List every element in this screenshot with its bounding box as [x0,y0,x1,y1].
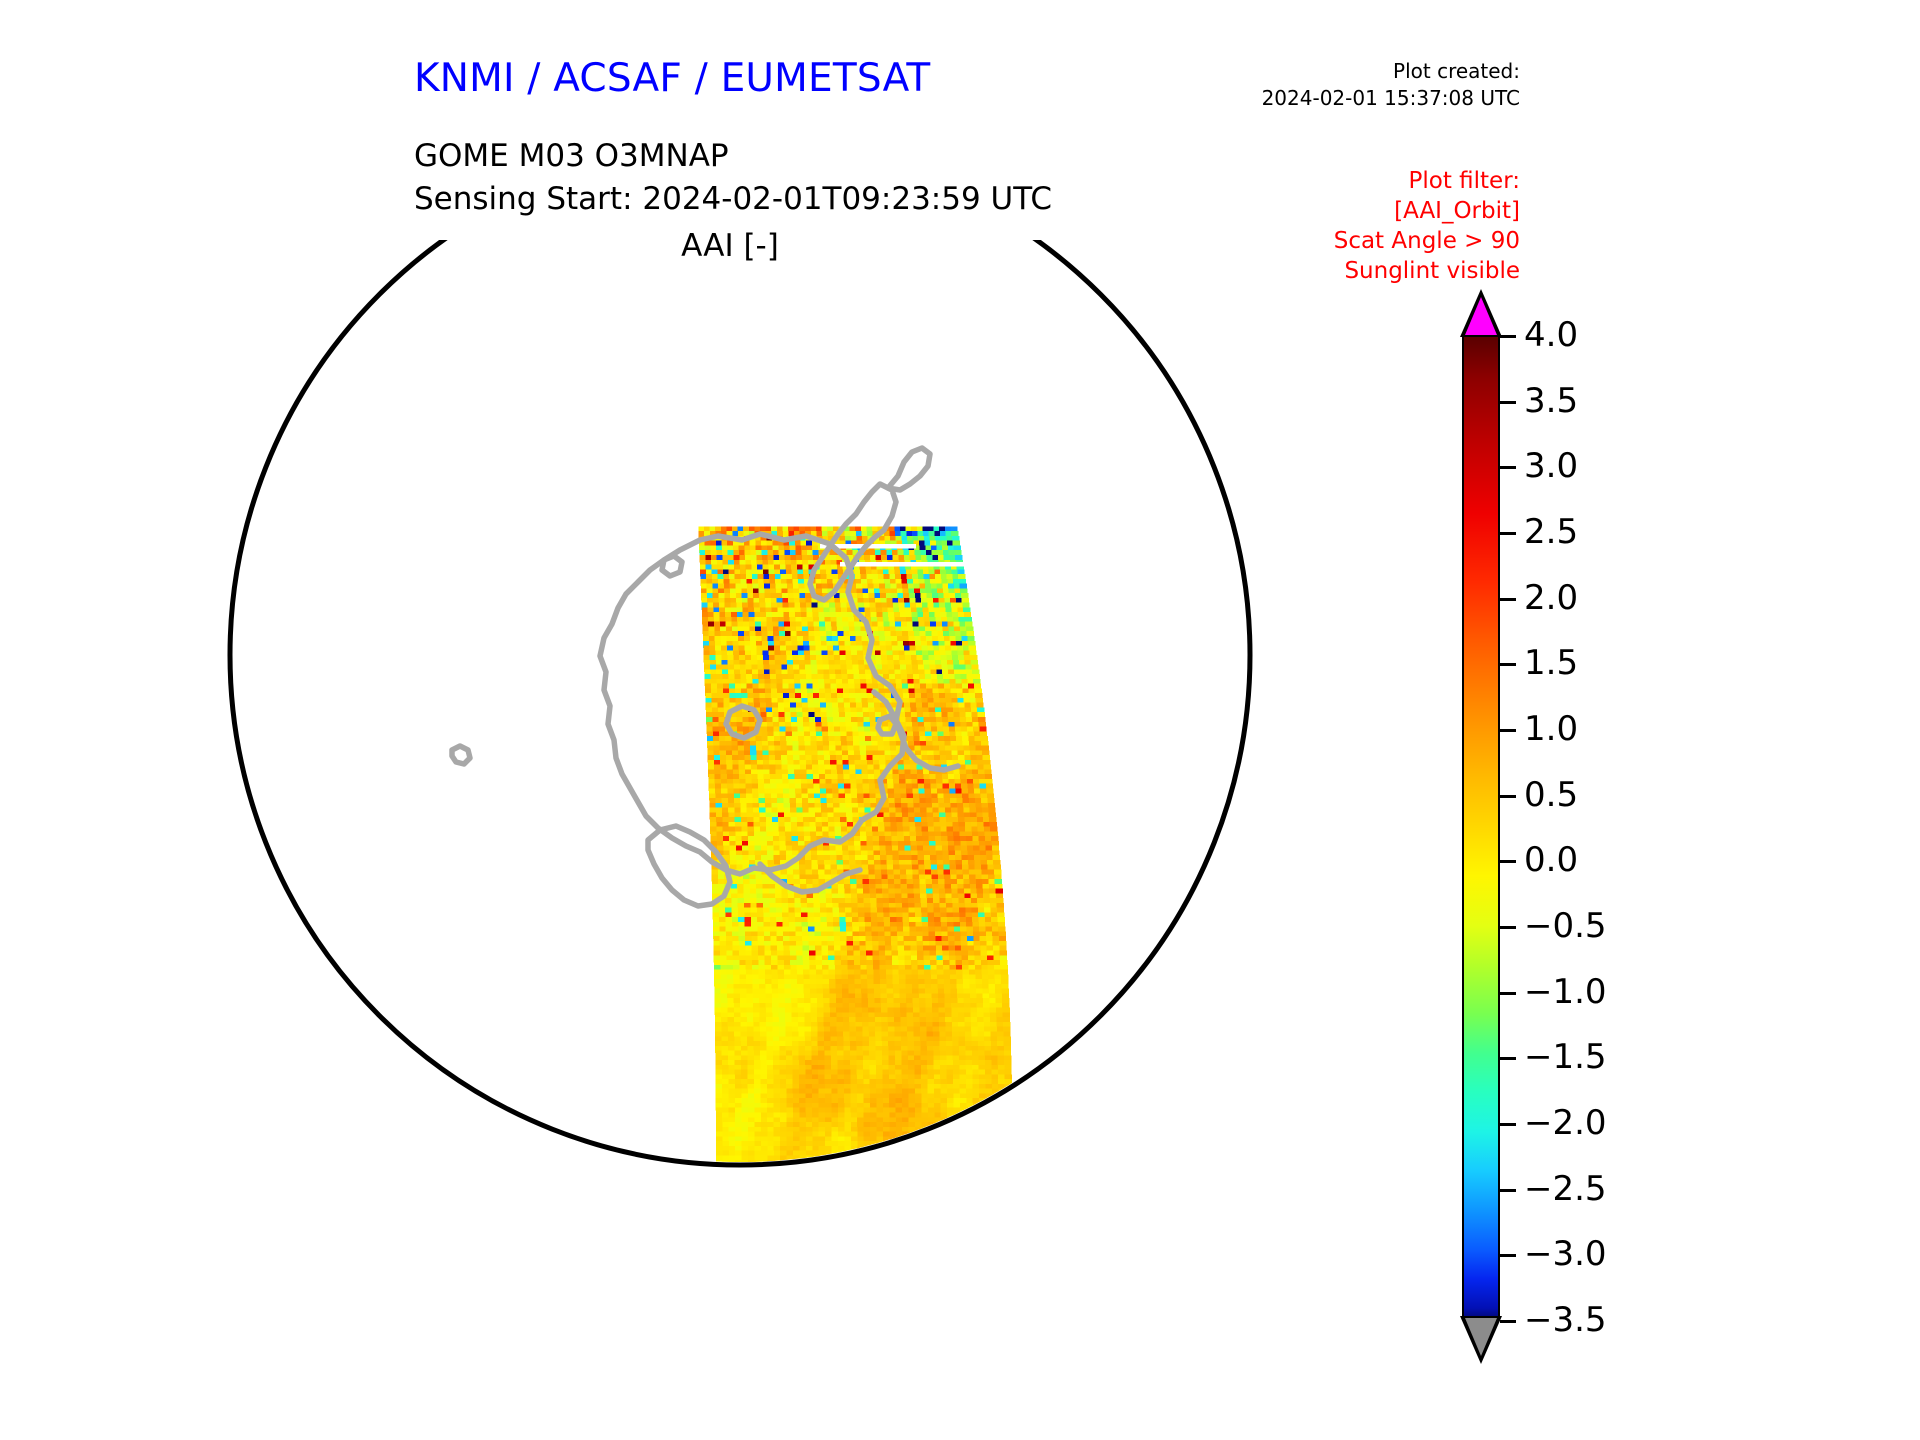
coastline-island-a [662,556,682,576]
colorbar-tick-label: 1.0 [1524,709,1578,749]
colorbar-tick-mark [1500,466,1516,469]
satellite-swath [698,526,1012,1243]
colorbar-tick-label: −0.5 [1524,906,1607,946]
colorbar-tick-label: −1.0 [1524,972,1607,1012]
plot-filter-orbit: [AAI_Orbit] [1100,196,1520,226]
colorbar-tick-label: −3.0 [1524,1234,1607,1274]
colorbar-tick-mark [1500,598,1516,601]
coastline-new-zealand-north [888,448,930,490]
map-canvas [0,240,1450,1440]
colorbar-tick-mark [1500,1189,1516,1192]
colorbar-tick-label: 0.0 [1524,840,1578,880]
coastline-south-america [1192,1102,1436,1330]
colorbar-tick-label: 4.0 [1524,315,1578,355]
colorbar-tick-mark [1500,1320,1516,1323]
colorbar-tick-mark [1500,992,1516,995]
colorbar-tick-mark [1500,1254,1516,1257]
colorbar-tick-label: −1.5 [1524,1037,1607,1077]
product-info-block: GOME M03 O3MNAP Sensing Start: 2024-02-0… [414,135,1052,221]
colorbar-tick-label: −2.5 [1524,1169,1607,1209]
colorbar-tick-label: 3.0 [1524,446,1578,486]
colorbar-tick-mark [1500,729,1516,732]
plot-filter-label: Plot filter: [1100,166,1520,196]
colorbar-tick-label: 2.5 [1524,512,1578,552]
coastline-small-island-left [452,746,470,764]
colorbar-tick-mark [1500,335,1516,338]
colorbar-tick-label: −2.0 [1524,1103,1607,1143]
colorbar-tick-label: 1.5 [1524,643,1578,683]
plot-created-block: Plot created: 2024-02-01 15:37:08 UTC [1100,58,1520,112]
colorbar-tick-label: −3.5 [1524,1300,1607,1340]
colorbar-tick-mark [1500,401,1516,404]
colorbar-tick-mark [1500,795,1516,798]
colorbar-under-arrow [1465,1318,1497,1356]
coastline-falklands [1214,1194,1240,1218]
sensing-start: Sensing Start: 2024-02-01T09:23:59 UTC [414,178,1052,221]
colorbar-tick-mark [1500,1057,1516,1060]
plot-created-label: Plot created: [1100,58,1520,85]
product-name: GOME M03 O3MNAP [414,135,1052,178]
colorbar[interactable]: 4.03.53.02.52.01.51.00.50.0−0.5−1.0−1.5−… [1452,285,1672,1285]
organisation-title: KNMI / ACSAF / EUMETSAT [414,56,930,101]
colorbar-tick-mark [1500,532,1516,535]
colorbar-tick-label: 0.5 [1524,775,1578,815]
plot-created-time: 2024-02-01 15:37:08 UTC [1100,85,1520,112]
colorbar-tick-mark [1500,1123,1516,1126]
colorbar-tick-mark [1500,663,1516,666]
colorbar-tick-mark [1500,926,1516,929]
colorbar-tick-label: 2.0 [1524,578,1578,618]
colorbar-tick-mark [1500,860,1516,863]
colorbar-over-arrow [1465,297,1497,335]
colorbar-tick-label: 3.5 [1524,381,1578,421]
colorbar-gradient[interactable] [1462,335,1500,1320]
